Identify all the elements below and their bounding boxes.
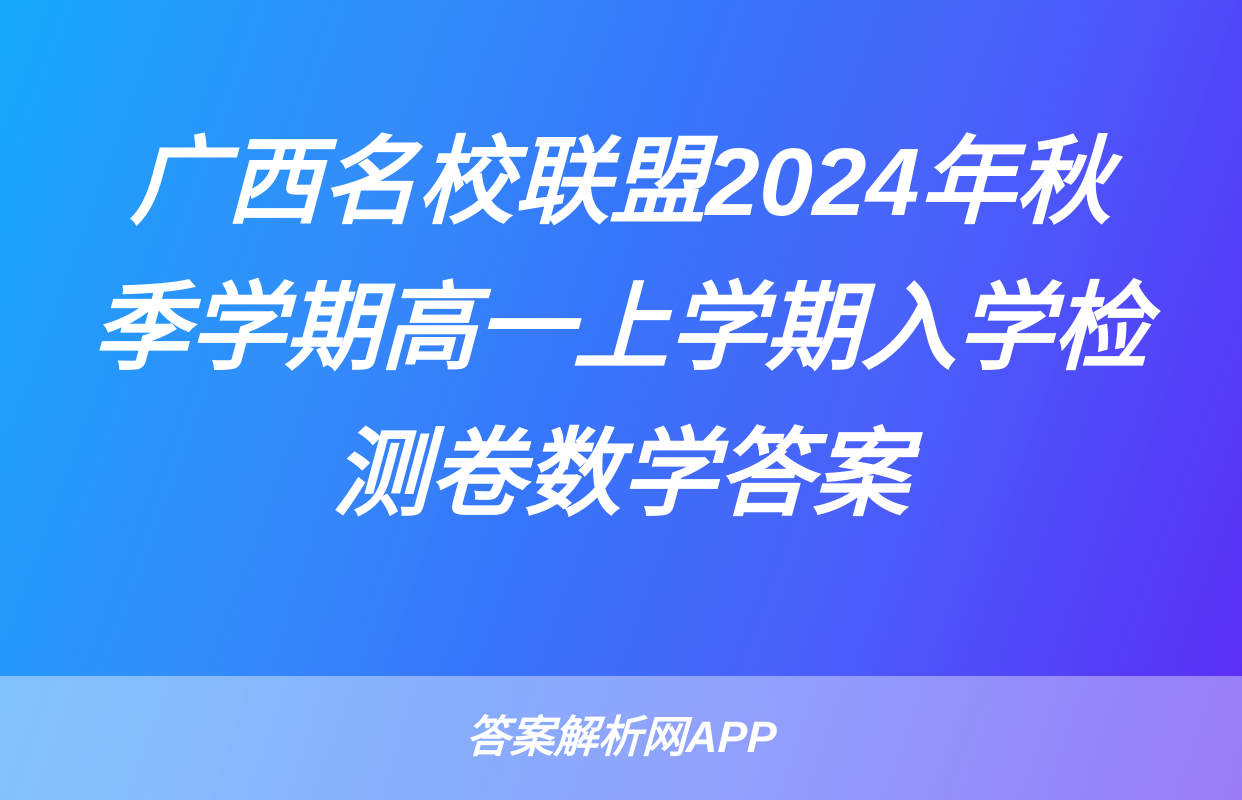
title-line-1: 广西名校联盟2024年秋 xyxy=(129,110,1113,256)
watermark-app-label: 答案解析网APP xyxy=(465,716,777,760)
promo-banner: 广西名校联盟2024年秋 季学期高一上学期入学检 测卷数学答案 答案解析网APP xyxy=(0,0,1242,800)
watermark-band: 答案解析网APP xyxy=(0,676,1242,800)
title-line-2: 季学期高一上学期入学检 xyxy=(92,256,1151,402)
title-block: 广西名校联盟2024年秋 季学期高一上学期入学检 测卷数学答案 xyxy=(0,0,1242,676)
title-line-3: 测卷数学答案 xyxy=(332,402,911,548)
